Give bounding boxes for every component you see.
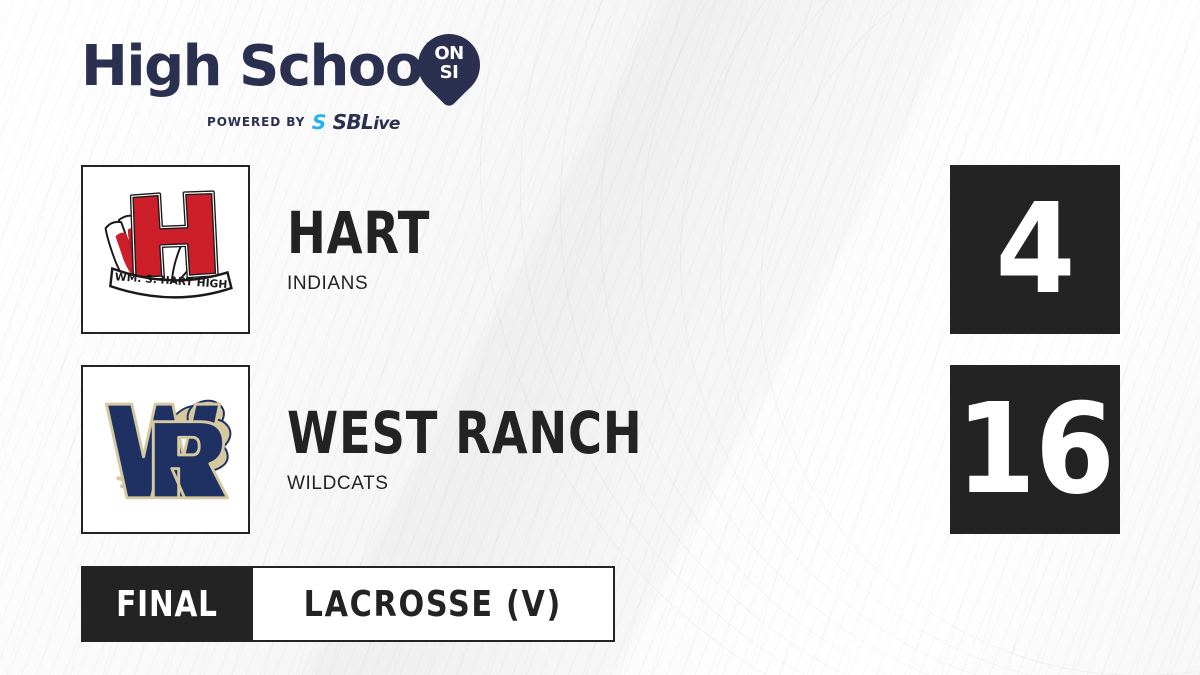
team-row: WEST RANCH WILDCATS 16 <box>0 365 1200 535</box>
status-badge: FINAL <box>81 566 253 642</box>
team-score: 4 <box>995 191 1074 309</box>
team-logo-card <box>81 365 250 534</box>
scoreboard-graphic: High School ON SI POWERED BY S SBLive <box>0 0 1200 675</box>
brand-header: High School ON SI POWERED BY S SBLive <box>81 36 511 136</box>
team-mascot: INDIANS <box>287 273 466 295</box>
pin-text: ON SI <box>418 44 480 82</box>
sblive-s-mark-icon: S <box>312 110 326 134</box>
sblive-wordmark: SBLive <box>333 110 400 134</box>
team-name: WEST RANCH <box>287 405 642 461</box>
team-logo-card: WM. S. HART HIGH <box>81 165 250 334</box>
team-row: WM. S. HART HIGH HART INDIANS 4 <box>0 165 1200 335</box>
sblive-lower: ive <box>373 114 400 134</box>
pin-line-on: ON <box>418 44 480 63</box>
west-ranch-wildcats-logo-icon <box>83 367 248 532</box>
team-score-box: 4 <box>950 165 1120 334</box>
team-name: HART <box>287 205 430 261</box>
sport-label-box: LACROSSE (V) <box>253 566 615 642</box>
status-bar: FINAL LACROSSE (V) <box>81 566 615 642</box>
sport-label: LACROSSE (V) <box>304 584 562 625</box>
team-mascot: WILDCATS <box>287 473 731 495</box>
sblive-upper: SBL <box>333 110 374 134</box>
team-score-box: 16 <box>950 365 1120 534</box>
team-text-block: WEST RANCH WILDCATS <box>287 365 731 534</box>
team-score: 16 <box>956 391 1114 509</box>
pin-line-si: SI <box>418 63 480 82</box>
hart-indians-logo-icon: WM. S. HART HIGH <box>83 167 248 332</box>
status-state-label: FINAL <box>116 584 218 625</box>
on-si-pin-icon: ON SI <box>418 34 480 112</box>
powered-by-label: POWERED BY <box>207 115 305 129</box>
team-text-block: HART INDIANS <box>287 165 466 334</box>
powered-by-row: POWERED BY S SBLive <box>207 110 400 134</box>
